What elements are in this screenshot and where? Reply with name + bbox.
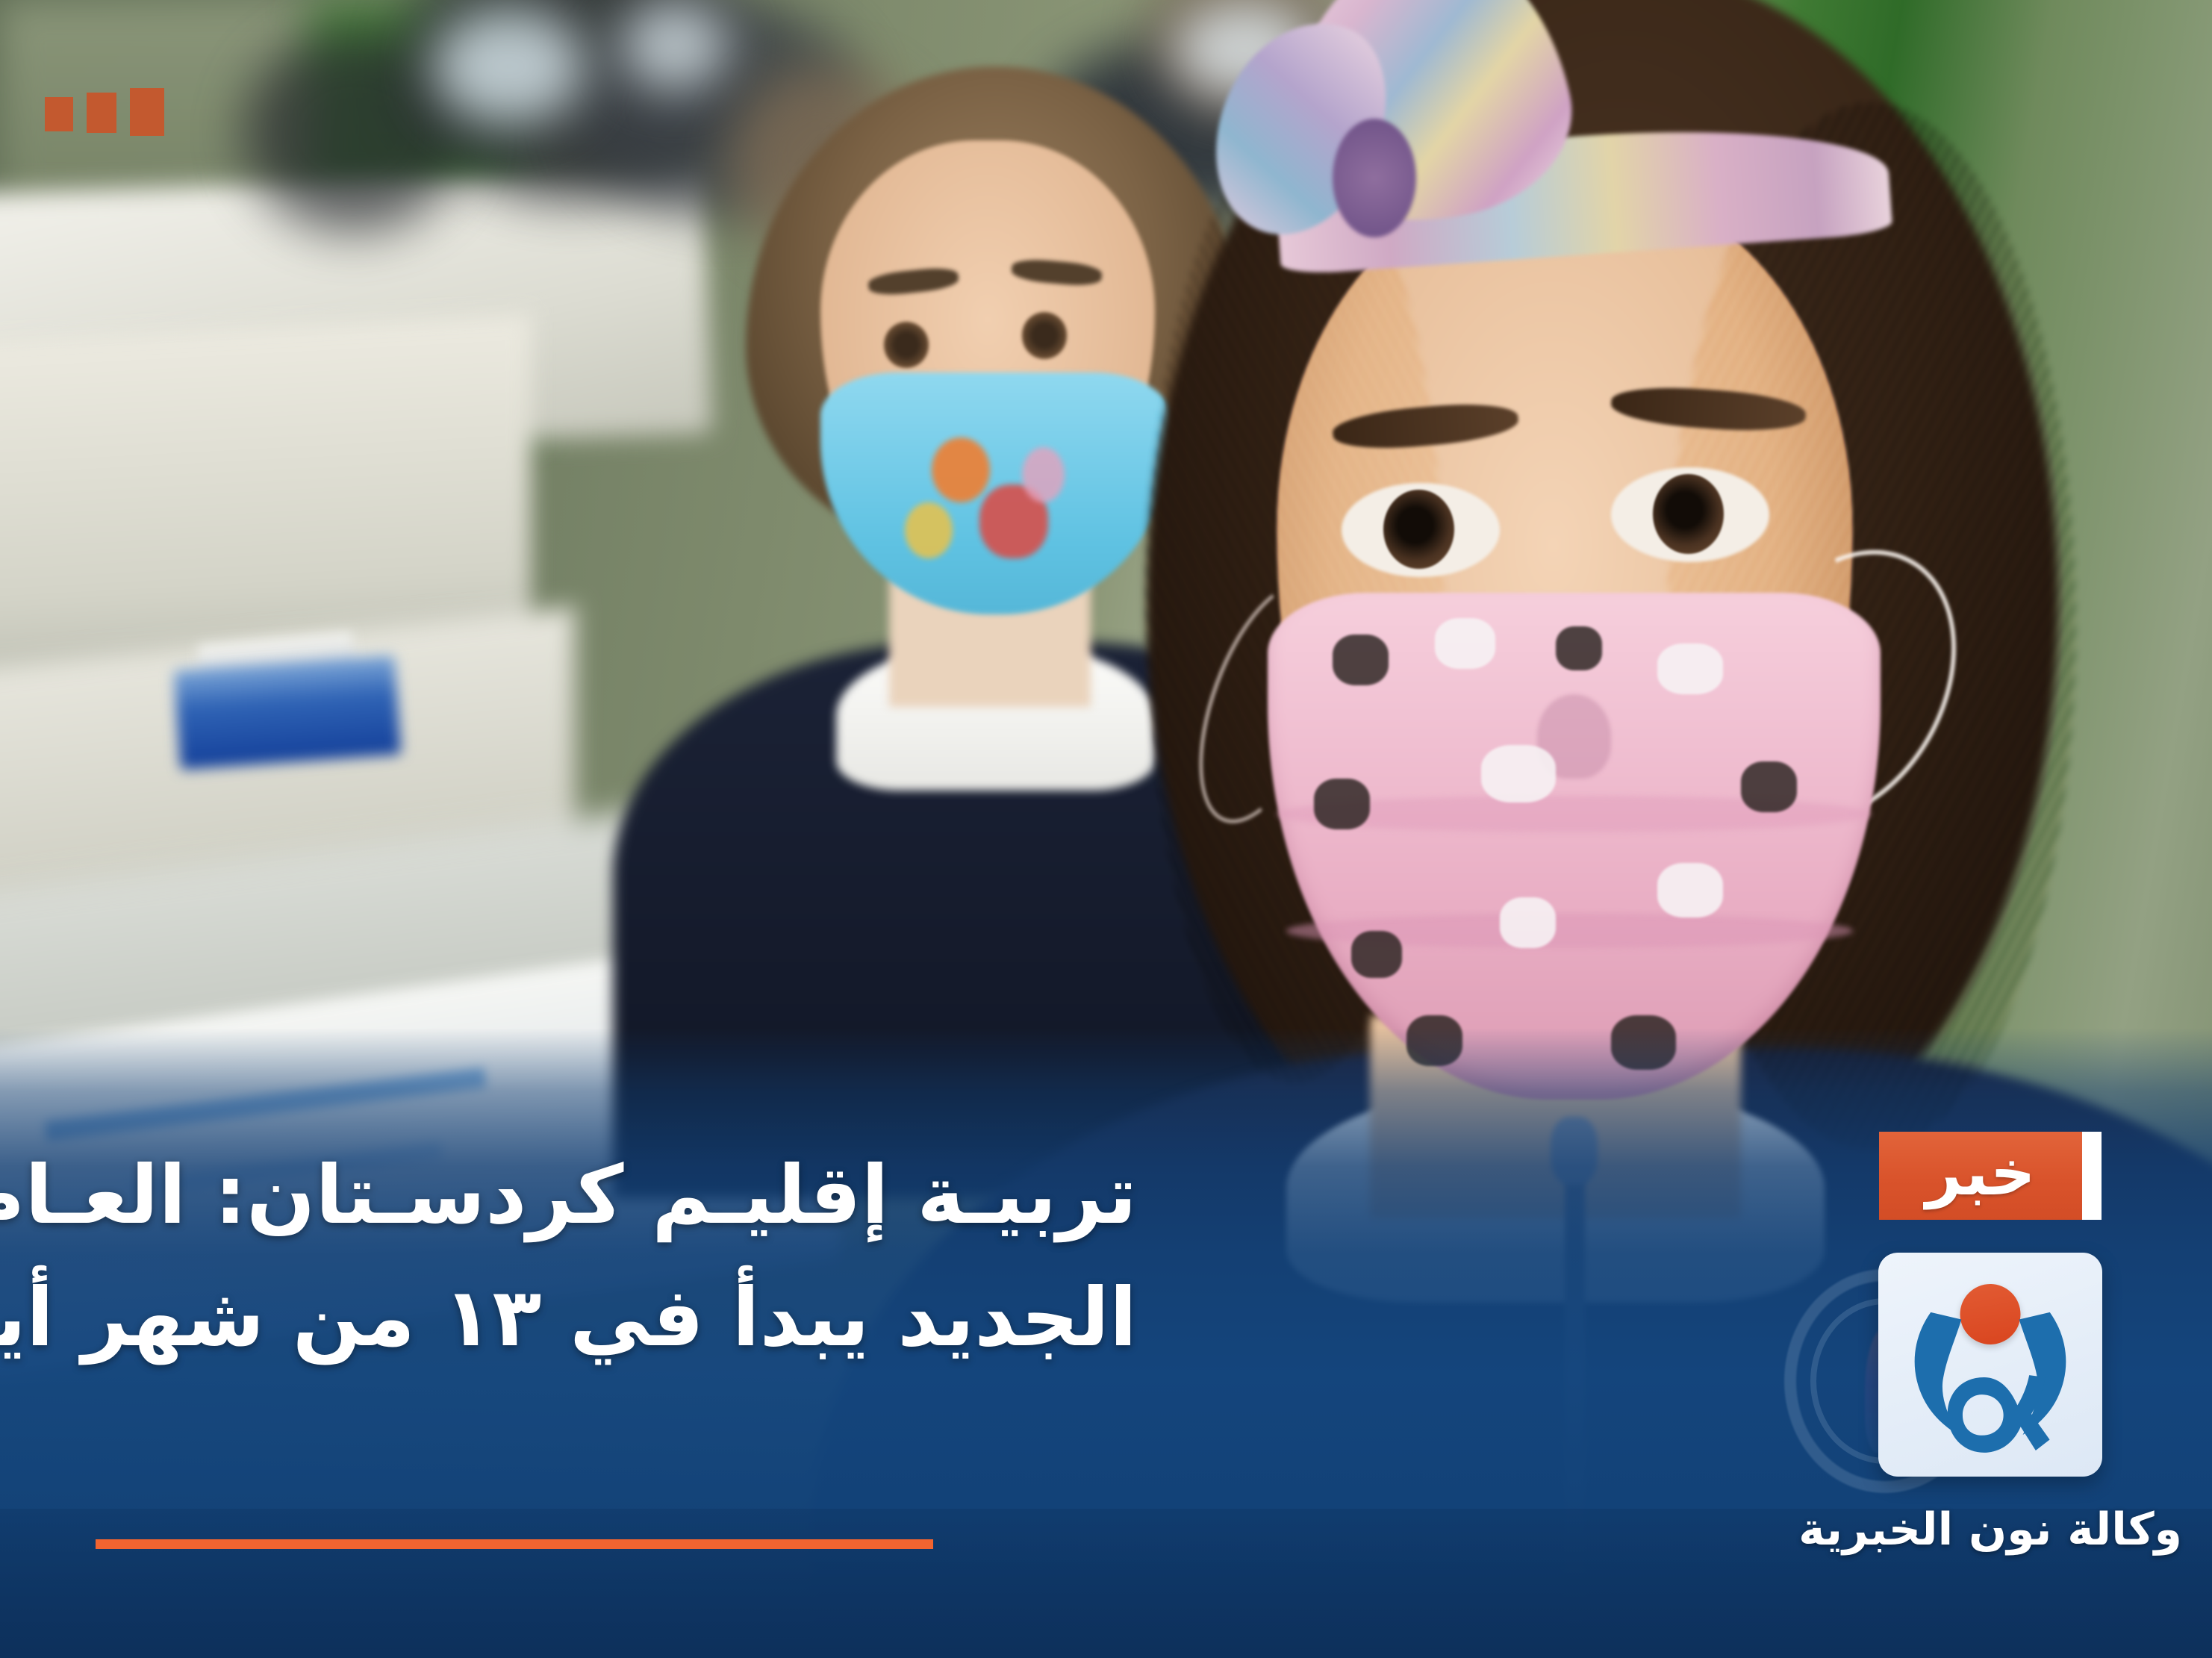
foreground-student-iris-left <box>1383 490 1454 569</box>
background-mask-blur-1 <box>432 8 586 124</box>
noon-agency-logo <box>1878 1253 2102 1477</box>
news-badge-row: خبر <box>1815 1132 2166 1220</box>
badge-white-bar <box>2082 1132 2102 1220</box>
headline: تربيـة إقليـم كردسـتان: العـام الدراسي ا… <box>112 1135 1137 1380</box>
foreground-student-iris-right <box>1653 474 1724 553</box>
news-card: تربيـة إقليـم كردسـتان: العـام الدراسي ا… <box>0 0 2212 1658</box>
blue-pencil-case <box>174 655 402 770</box>
mask-bow-print-10 <box>1351 931 1402 978</box>
mask-bow-print-3 <box>1556 626 1602 670</box>
bar-mark-1 <box>130 88 164 136</box>
mask-bow-print-5 <box>1481 745 1556 802</box>
brand-column: خبر وكالة نون الخبرية <box>1815 1132 2166 1556</box>
mask-bow-print-1 <box>1333 635 1389 685</box>
three-bars-mark <box>45 88 164 136</box>
background-student-eye-left <box>884 322 929 368</box>
bar-mark-3 <box>45 97 73 131</box>
headband-bow-knot <box>1333 119 1416 237</box>
orange-rule <box>96 1539 933 1549</box>
mask-print-blob-3 <box>905 502 953 558</box>
mask-bow-print-6 <box>1314 779 1370 829</box>
mask-print-blob-1 <box>932 437 990 502</box>
bar-mark-2 <box>87 93 116 133</box>
headline-line-2: الجديد يبدأ في ١٣ من شهر أيلول <box>112 1257 1137 1380</box>
background-mask-blur-2 <box>620 0 730 91</box>
logo-noon-glyph-icon <box>1943 1365 2051 1463</box>
mask-bow-print-2 <box>1435 618 1495 669</box>
background-student-eye-right <box>1022 312 1067 358</box>
mask-bow-print-9 <box>1500 897 1556 948</box>
headline-line-1: تربيـة إقليـم كردسـتان: العـام الدراسي <box>112 1135 1137 1257</box>
mask-bow-print-7 <box>1741 761 1797 812</box>
mask-print-blob-4 <box>1022 447 1065 503</box>
mask-bow-print-8 <box>1657 863 1722 917</box>
news-badge: خبر <box>1879 1132 2082 1220</box>
mask-bow-print-4 <box>1657 643 1722 694</box>
agency-name: وكالة نون الخبرية <box>1798 1503 2182 1556</box>
